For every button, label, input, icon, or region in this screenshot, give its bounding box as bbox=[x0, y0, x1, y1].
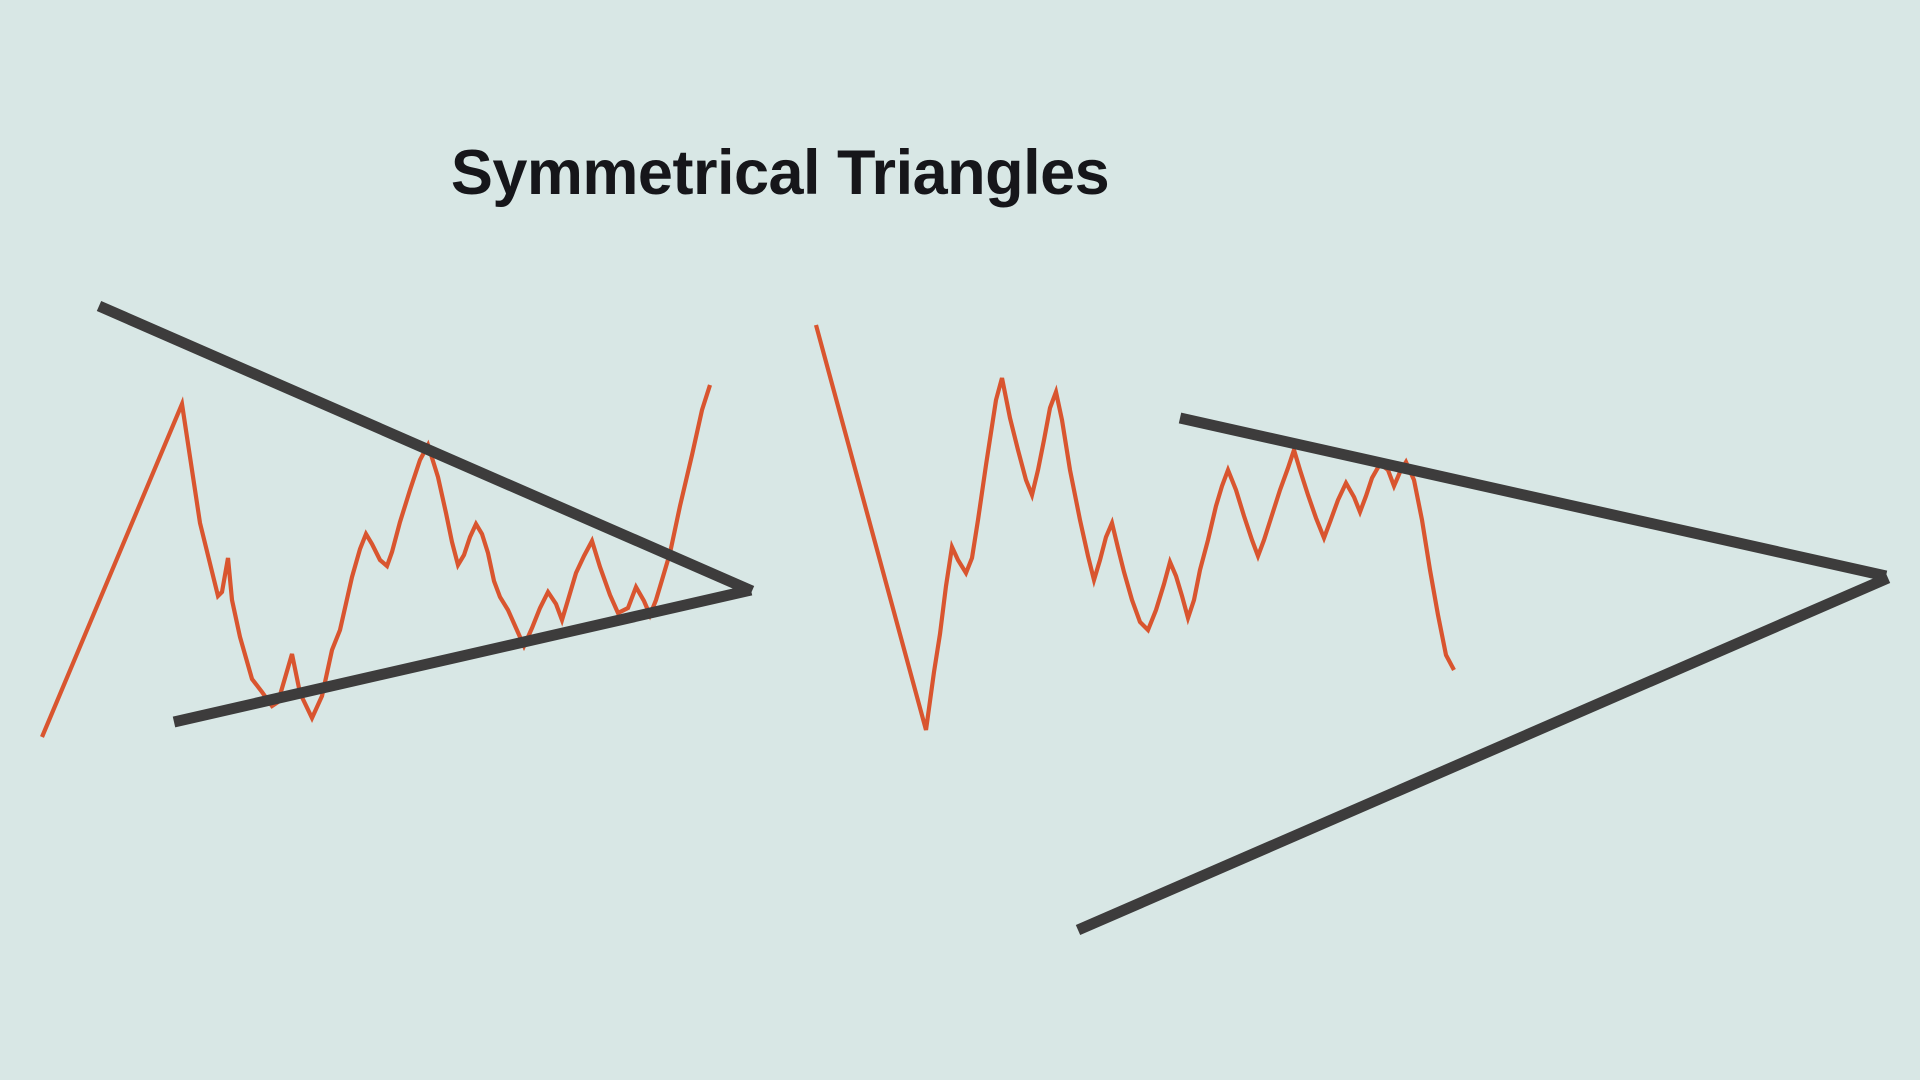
lower-trendline-left bbox=[174, 590, 751, 722]
lower-trendline-right bbox=[1078, 578, 1888, 930]
price-line-right bbox=[816, 325, 1454, 730]
upper-trendline-right bbox=[1180, 418, 1886, 576]
panel-bearish-symmetrical-triangle bbox=[816, 325, 1888, 930]
figure-canvas: Symmetrical Triangles bbox=[0, 0, 1920, 1080]
panel-bullish-symmetrical-triangle bbox=[42, 306, 752, 737]
symmetrical-triangles-chart bbox=[0, 0, 1920, 1080]
price-line-left bbox=[42, 385, 710, 737]
upper-trendline-left bbox=[99, 306, 752, 591]
